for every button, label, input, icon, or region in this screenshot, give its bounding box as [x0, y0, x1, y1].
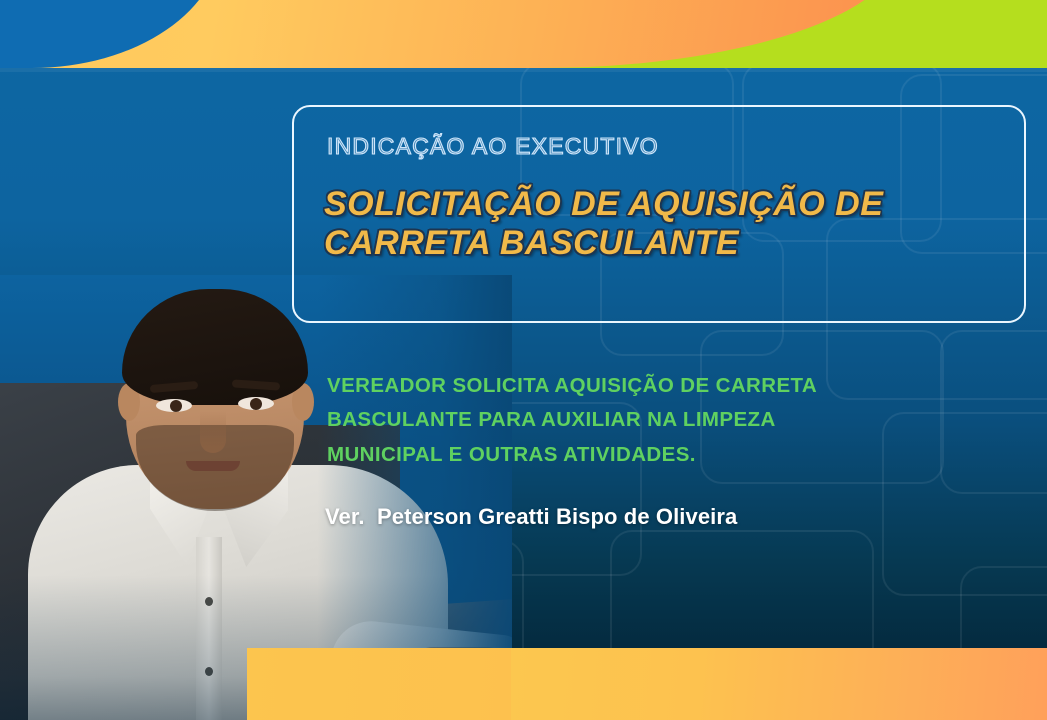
top-decorative-bar: [0, 0, 1047, 68]
page-title: SOLICITAÇÃO DE AQUISIÇÃO DE CARRETA BASC…: [324, 185, 964, 264]
bottom-band-left: [247, 648, 511, 720]
eyebrow-label: INDICAÇÃO AO EXECUTIVO: [327, 133, 659, 160]
bottom-band: [511, 648, 1047, 720]
summary-text: VEREADOR SOLICITA AQUISIÇÃO DE CARRETA B…: [327, 369, 867, 472]
bg-rect: [940, 330, 1047, 494]
poster-canvas: INDICAÇÃO AO EXECUTIVO SOLICITAÇÃO DE AQ…: [0, 0, 1047, 720]
byline-name: Ver. Peterson Greatti Bispo de Oliveira: [325, 504, 737, 530]
topbar-underline: [0, 68, 1047, 72]
bg-rect: [882, 412, 1047, 596]
